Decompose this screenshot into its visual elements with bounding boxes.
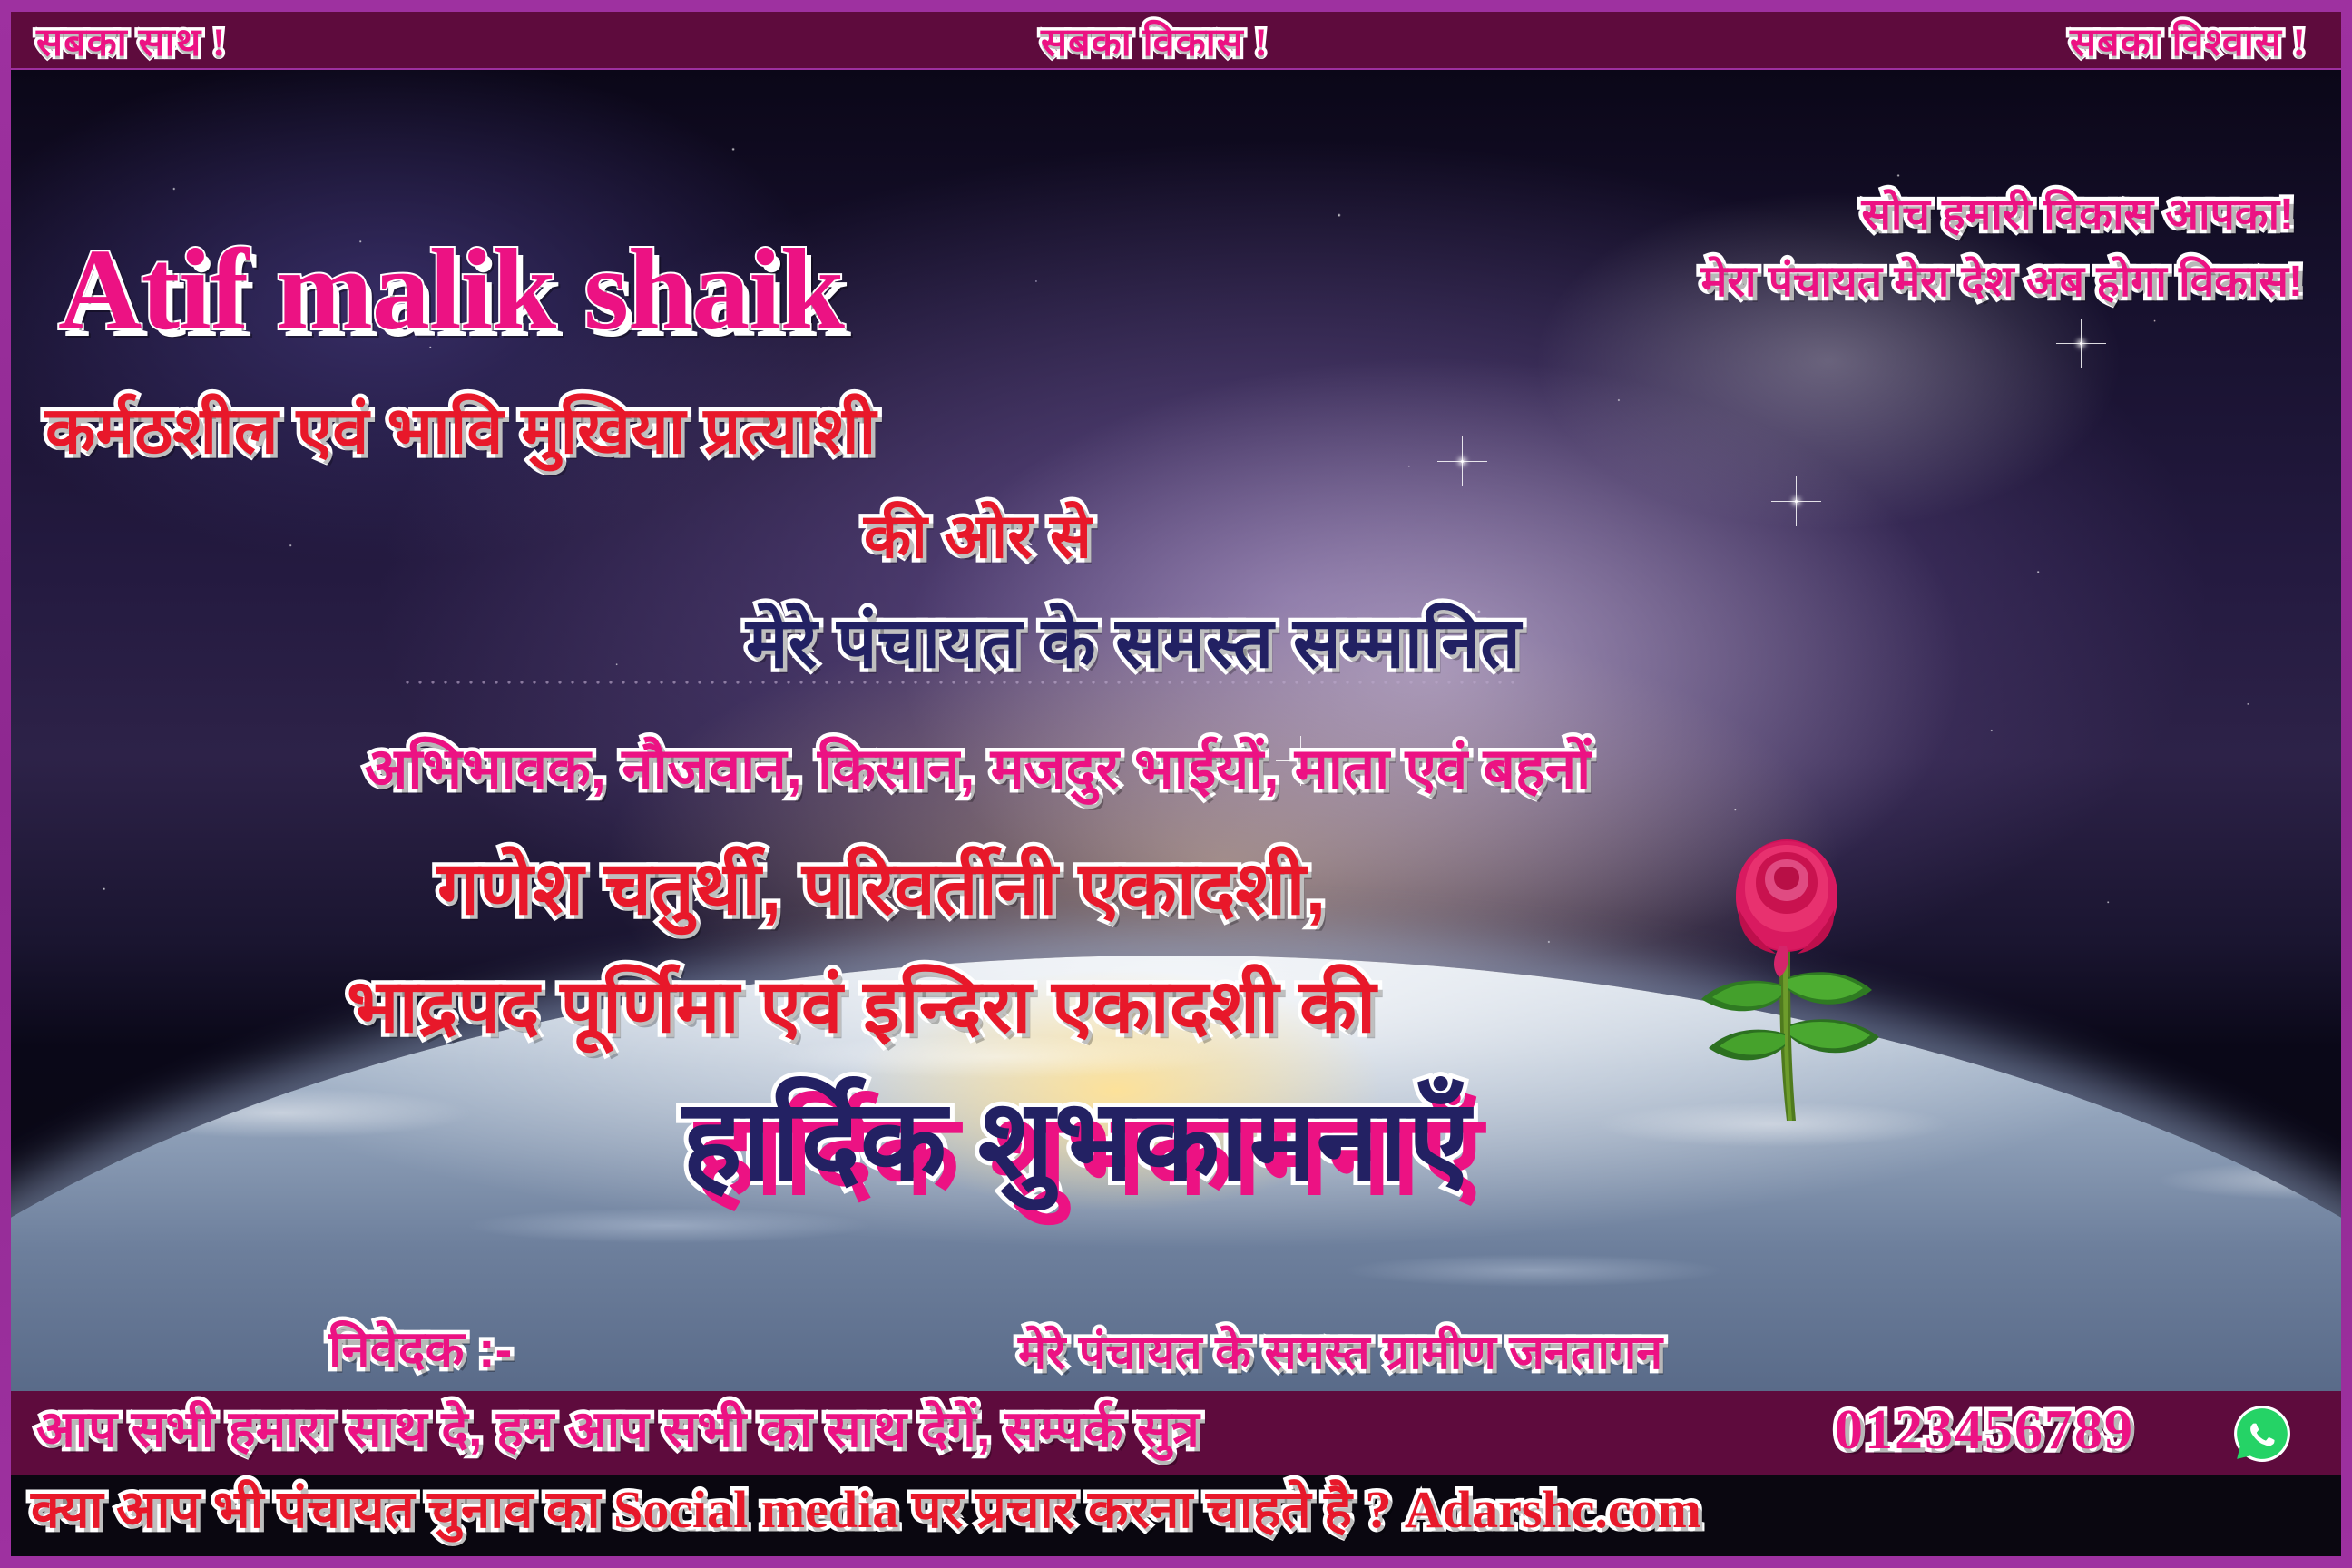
festival-line1: गणेश चतुर्थी, परिवर्तीनी एकादशी,	[437, 852, 1326, 926]
poster-canvas: सबका साथ ! सबका विकास ! सबका विश्वास ! A…	[0, 0, 2352, 1568]
footer-promo-bar: क्या आप भी पंचायत चुनाव का Social media …	[11, 1475, 2341, 1556]
header-slogan-center-wrap: सबका विकास !	[1041, 14, 1269, 67]
header-slogan-center: सबका विकास !	[1041, 22, 1269, 64]
candidate-from: की ओर से	[864, 505, 1092, 567]
divider-dots-top	[401, 680, 1517, 685]
footer-appeal-text: आप सभी हमारा साथ दे, हम आप सभी का साथ दे…	[36, 1404, 1200, 1455]
footer-appeal-bar: आप सभी हमारा साथ दे, हम आप सभी का साथ दे…	[11, 1391, 2341, 1475]
signature-value: मेरे पंचायत के समस्त ग्रामीण जनतागन	[1018, 1329, 1662, 1377]
corner-slogan-line1: सोच हमारी विकास आपका!	[1861, 193, 2294, 237]
greeting-wish: हार्दिक शुभकामनाएँ	[682, 1084, 1470, 1197]
header-slogan-right: सबका विश्वास !	[2070, 22, 2307, 64]
footer-phone-number[interactable]: 0123456789	[1835, 1402, 2134, 1458]
header-slogan-left: सबका साथ !	[36, 22, 226, 64]
rose-flower-icon	[1685, 830, 1903, 1130]
header-bar: सबका साथ ! सबका विकास ! सबका विश्वास !	[11, 12, 2341, 68]
header-slogan-right-wrap: सबका विश्वास !	[2070, 14, 2307, 67]
candidate-name: Atif malik shaik	[58, 231, 844, 348]
bright-star	[1795, 500, 1798, 503]
whatsapp-icon[interactable]	[2232, 1404, 2292, 1464]
corner-slogan-line2: मेरा पंचायत मेरा देश अब होगा विकास!	[1701, 260, 2303, 304]
bright-star	[2080, 342, 2082, 345]
space-background: Atif malik shaik सोच हमारी विकास आपका! म…	[11, 70, 2341, 1391]
header-slogan-left-wrap: सबका साथ !	[36, 14, 226, 67]
signature-label: निवेदक :-	[328, 1324, 512, 1375]
greeting-addressee-line2: अभिभावक, नौजवान, किसान, मजदुर भाईयों, मा…	[365, 741, 1591, 798]
greeting-addressee-line1: मेरे पंचायत के समस्त सम्मानित	[746, 607, 1521, 678]
bright-star	[1461, 460, 1464, 463]
festival-line2: भाद्रपद पूर्णिमा एवं इन्दिरा एकादशी की	[347, 970, 1376, 1044]
footer-promo-text[interactable]: क्या आप भी पंचायत चुनाव का Social media …	[31, 1484, 1701, 1536]
candidate-designation: कर्मठशील एवं भावि मुखिया प्रत्याशी	[45, 398, 876, 464]
